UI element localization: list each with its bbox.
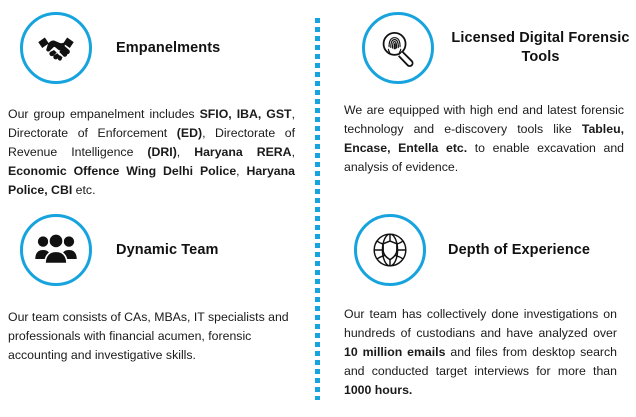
card-header: Depth of Experience	[340, 208, 636, 292]
card-title: Depth of Experience	[426, 241, 636, 260]
card-licensed-digital-forensic-tools: Licensed Digital Forensic Tools We are e…	[340, 6, 636, 177]
vertical-dashed-divider	[315, 18, 320, 400]
handshake-icon	[20, 12, 92, 84]
infographic-root: Empanelments Our group empanelment inclu…	[0, 0, 636, 417]
card-title: Dynamic Team	[92, 241, 309, 260]
card-body-text: We are equipped with high end and latest…	[340, 101, 628, 177]
card-title: Licensed Digital Forensic Tools	[434, 29, 636, 66]
card-dynamic-team: Dynamic Team Our team consists of CAs, M…	[6, 208, 309, 365]
card-empanelments: Empanelments Our group empanelment inclu…	[6, 6, 309, 200]
card-depth-of-experience: Depth of Experience Our team has collect…	[340, 208, 636, 400]
card-header: Empanelments	[6, 6, 309, 90]
card-title: Empanelments	[92, 39, 309, 58]
card-header: Licensed Digital Forensic Tools	[340, 6, 636, 90]
card-body-text: Our team has collectively done investiga…	[340, 305, 621, 400]
globe-shield-icon	[354, 214, 426, 286]
card-header: Dynamic Team	[6, 208, 309, 292]
card-body-text: Our team consists of CAs, MBAs, IT speci…	[6, 308, 296, 365]
magnifier-fingerprint-icon	[362, 12, 434, 84]
people-group-icon	[20, 214, 92, 286]
card-body-text: Our group empanelment includes SFIO, IBA…	[6, 105, 299, 200]
